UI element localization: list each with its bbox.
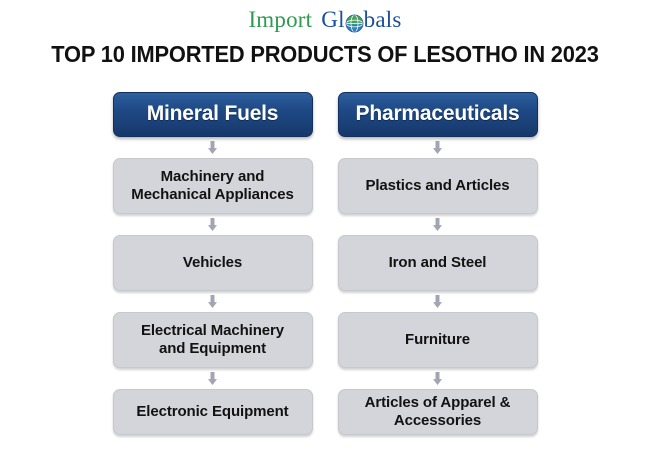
logo-word-gl: Gl <box>321 7 344 33</box>
flowchart: Mineral Fuels Machinery and Mechanical A… <box>0 92 650 435</box>
flow-item-label: Articles of Apparel & Accessories <box>365 394 511 429</box>
connector-right-1 <box>433 137 442 158</box>
globe-icon <box>345 13 364 32</box>
arrow-down-icon <box>433 218 442 231</box>
flow-item-articles-of-apparel[interactable]: Articles of Apparel & Accessories <box>338 389 538 435</box>
arrow-down-icon <box>433 295 442 308</box>
arrow-down-icon <box>208 372 217 385</box>
flow-header-pharmaceuticals[interactable]: Pharmaceuticals <box>338 92 538 137</box>
flow-item-label: Furniture <box>405 331 470 349</box>
flow-item-label: Electrical Machinery and Equipment <box>141 322 284 357</box>
flow-item-furniture[interactable]: Furniture <box>338 312 538 368</box>
flow-header-mineral-fuels[interactable]: Mineral Fuels <box>113 92 313 137</box>
flow-item-electrical-machinery[interactable]: Electrical Machinery and Equipment <box>113 312 313 368</box>
arrow-down-icon <box>208 141 217 154</box>
flow-column-left: Mineral Fuels Machinery and Mechanical A… <box>113 92 313 435</box>
flow-item-machinery[interactable]: Machinery and Mechanical Appliances <box>113 158 313 214</box>
page-title: TOP 10 IMPORTED PRODUCTS OF LESOTHO IN 2… <box>23 41 628 68</box>
flow-header-label: Pharmaceuticals <box>356 102 520 127</box>
connector-left-3 <box>208 291 217 312</box>
flow-item-label: Electronic Equipment <box>136 403 288 421</box>
connector-right-2 <box>433 214 442 235</box>
flow-item-label: Vehicles <box>183 254 242 272</box>
connector-left-1 <box>208 137 217 158</box>
connector-left-2 <box>208 214 217 235</box>
logo-word-bals: bals <box>364 7 402 33</box>
logo-word-import: Import <box>248 7 312 33</box>
flow-item-electronic-equipment[interactable]: Electronic Equipment <box>113 389 313 435</box>
arrow-down-icon <box>208 218 217 231</box>
flow-column-right: Pharmaceuticals Plastics and Articles Ir… <box>338 92 538 435</box>
arrow-down-icon <box>208 295 217 308</box>
flow-item-vehicles[interactable]: Vehicles <box>113 235 313 291</box>
connector-right-3 <box>433 291 442 312</box>
arrow-down-icon <box>433 141 442 154</box>
flow-item-label: Machinery and Mechanical Appliances <box>131 168 293 203</box>
flow-item-label: Iron and Steel <box>389 254 487 272</box>
connector-left-4 <box>208 368 217 389</box>
brand-logo: Import Gl bals <box>0 0 650 36</box>
connector-right-4 <box>433 368 442 389</box>
flow-header-label: Mineral Fuels <box>147 102 279 127</box>
flow-item-iron-and-steel[interactable]: Iron and Steel <box>338 235 538 291</box>
flow-item-label: Plastics and Articles <box>365 177 509 195</box>
flow-item-plastics[interactable]: Plastics and Articles <box>338 158 538 214</box>
arrow-down-icon <box>433 372 442 385</box>
logo-text: Import Gl bals <box>248 7 401 33</box>
